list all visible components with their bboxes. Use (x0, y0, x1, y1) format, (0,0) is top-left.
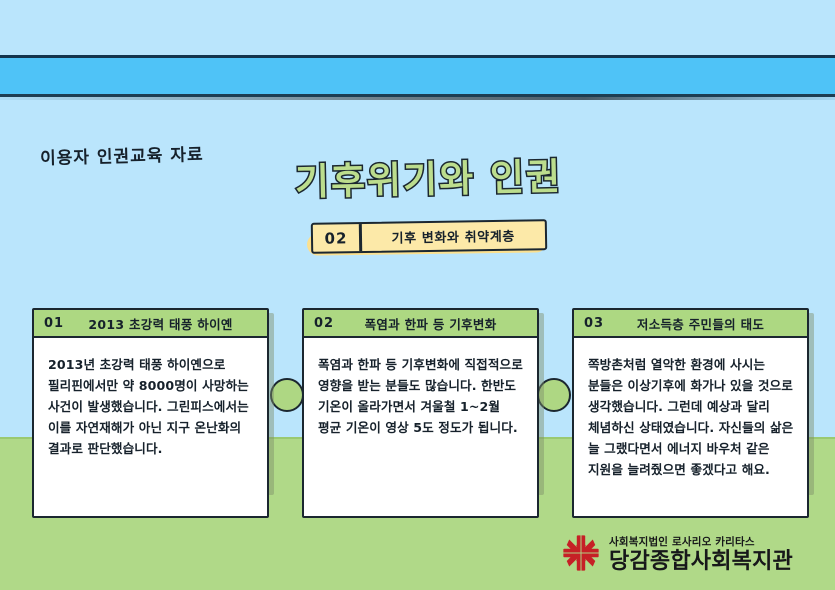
organization-logo-text: 사회복지법인 로사리오 카리타스 당감종합사회복지관 (609, 530, 835, 575)
connector-circle-1 (270, 378, 304, 412)
card-3-header: 03 저소득층 주민들의 태도 (574, 310, 807, 338)
card-1-number: 01 (40, 316, 64, 331)
card-3-body: 쪽방촌처럼 열악한 환경에 사시는 분들은 이상기후에 화가나 있을 것으로 생… (574, 338, 807, 516)
card-3-number: 03 (580, 316, 604, 331)
slide-root: 이용자 인권교육 자료 기후위기와 인권 02 기후 변화와 취약계층 01 2… (0, 0, 835, 590)
card-1-header: 01 2013 초강력 태풍 하이옌 (34, 310, 267, 338)
banner-shadow (0, 97, 835, 100)
kicker-text: 이용자 인권교육 자료 (40, 140, 204, 169)
organization-name: 당감종합사회복지관 (609, 549, 793, 574)
card-2-number: 02 (310, 316, 334, 331)
card-3-title: 저소득층 주민들의 태도 (604, 314, 801, 333)
subtitle-number: 02 (313, 229, 359, 248)
subtitle-label: 기후 변화와 취약계층 (361, 225, 545, 247)
card-3-frame: 03 저소득층 주민들의 태도 쪽방촌처럼 열악한 환경에 사시는 분들은 이상… (572, 308, 809, 518)
banner-band (0, 58, 835, 94)
organization-type: 사회복지법인 로사리오 카리타스 (609, 536, 755, 548)
card-2-body: 폭염과 한파 등 기후변화에 직접적으로 영향을 받는 분들도 많습니다. 한반… (304, 338, 537, 516)
subtitle-chip: 02 기후 변화와 취약계층 (311, 219, 547, 254)
info-card-2: 02 폭염과 한파 등 기후변화 폭염과 한파 등 기후변화에 직접적으로 영향… (302, 308, 539, 518)
card-2-title: 폭염과 한파 등 기후변화 (334, 314, 531, 333)
info-card-1: 01 2013 초강력 태풍 하이옌 2013년 초강력 태풍 하이옌으로 필리… (32, 308, 269, 518)
card-1-title: 2013 초강력 태풍 하이옌 (64, 314, 261, 333)
caritas-cross-icon (560, 532, 602, 574)
page-title-text: 기후위기와 인권 (294, 154, 555, 205)
organization-logo: 사회복지법인 로사리오 카리타스 당감종합사회복지관 (560, 530, 835, 575)
page-title: 기후위기와 인권 (294, 154, 555, 211)
card-2-header: 02 폭염과 한파 등 기후변화 (304, 310, 537, 338)
card-1-frame: 01 2013 초강력 태풍 하이옌 2013년 초강력 태풍 하이옌으로 필리… (32, 308, 269, 518)
card-1-body: 2013년 초강력 태풍 하이옌으로 필리핀에서만 약 8000명이 사망하는 … (34, 338, 267, 516)
card-2-frame: 02 폭염과 한파 등 기후변화 폭염과 한파 등 기후변화에 직접적으로 영향… (302, 308, 539, 518)
info-card-3: 03 저소득층 주민들의 태도 쪽방촌처럼 열악한 환경에 사시는 분들은 이상… (572, 308, 809, 518)
